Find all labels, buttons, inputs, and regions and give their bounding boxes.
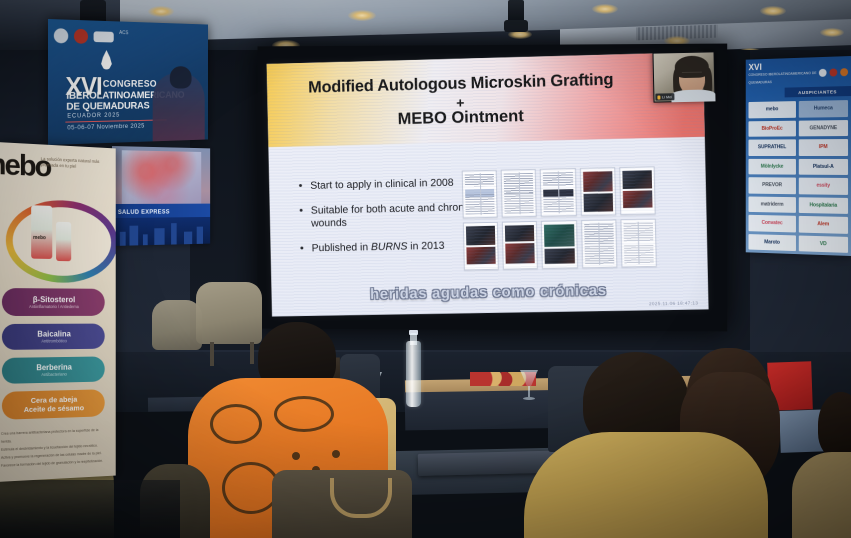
sponsor-logo: BioProEc xyxy=(748,120,795,137)
sponsor-banner-roman: XVI CONGRESO IBEROLATINOAMERICANO DE QUE… xyxy=(748,61,818,87)
congress-dates: 05-06-07 Noviembre 2025 xyxy=(67,123,144,132)
downlight-icon xyxy=(592,4,618,14)
sponsor-logo: Hospitalaria xyxy=(799,197,848,214)
presenter-torso xyxy=(671,89,715,102)
foreground-shadow xyxy=(0,480,180,538)
mebo-tube-large xyxy=(31,205,52,259)
ingredient-name: β-Sitosterol xyxy=(33,295,75,304)
sponsor-banner-header: XVI CONGRESO IBEROLATINOAMERICANO DE QUE… xyxy=(748,59,848,87)
bullet-marker: • xyxy=(300,243,304,256)
sponsors-section-label: AUSPICIANTES xyxy=(785,86,851,97)
sponsor-logo: Alem xyxy=(799,216,848,234)
downlight-icon xyxy=(348,10,376,21)
wine-glass-stem xyxy=(528,386,530,397)
logo-sociedad-icon xyxy=(74,28,88,43)
downlight-icon xyxy=(820,28,844,37)
list-item: • Published in BURNS in 2013 xyxy=(300,239,484,255)
water-bottle xyxy=(406,341,421,407)
paper-thumbnail xyxy=(463,222,499,271)
secondary-display: SALUD EXPRESS xyxy=(112,146,210,246)
logo-a-icon xyxy=(819,69,827,77)
sponsor-banner-subtitle: CONGRESO IBEROLATINOAMERICANO DE QUEMADU… xyxy=(748,69,818,87)
paper-thumbnail xyxy=(620,219,657,268)
skyline-graphic xyxy=(112,217,210,246)
sponsor-logo: matriderm xyxy=(748,196,795,213)
paper-thumbnail-grid xyxy=(462,166,657,270)
mebo-footnotes: Crea una barrera antibacteriana protecto… xyxy=(1,426,108,470)
paper-thumbnail xyxy=(541,220,577,269)
paper-thumbnail xyxy=(619,166,656,215)
ingredient-name: Baicalina xyxy=(37,330,70,339)
banner-silhouette-head xyxy=(170,66,192,88)
eyeglasses-icon xyxy=(682,72,702,78)
slide-annotation: heridas agudas como crónicas xyxy=(271,280,708,305)
sponsor-banner-right: XVI CONGRESO IBEROLATINOAMERICANO DE QUE… xyxy=(746,56,851,256)
sponsor-logo: Platsul-A xyxy=(799,158,848,175)
person-olive-jacket xyxy=(524,432,768,538)
sponsor-mini-logos xyxy=(819,68,848,77)
sponsor-logo: Mölnlycke xyxy=(748,158,795,174)
congress-word: CONGRESO xyxy=(103,79,157,90)
person-right-edge-head xyxy=(818,392,851,458)
paper-thumbnail xyxy=(462,170,498,219)
sponsor-logo: IPM xyxy=(799,139,848,155)
divider xyxy=(65,119,166,122)
ingredient-pill: Baicalina Antitrombótico xyxy=(2,324,105,350)
list-item: • Start to apply in clinical in 2008 xyxy=(299,176,483,193)
paper-thumbnail xyxy=(581,219,618,268)
sponsor-logo: PREVOR xyxy=(748,177,795,194)
ingredient-sub: Antibacteriano xyxy=(41,372,66,377)
logo-partner-icon: ACS xyxy=(119,30,128,45)
downlight-icon xyxy=(148,6,174,17)
downlight-icon xyxy=(760,6,786,16)
logo-b-icon xyxy=(829,68,837,76)
bullet-marker: • xyxy=(299,205,303,231)
secondary-display-graphic xyxy=(122,150,201,210)
flame-icon xyxy=(100,50,113,70)
sponsor-logo: Convatec xyxy=(748,215,795,232)
ingredient-sub: Antiinflamatorio / Antiedema xyxy=(29,304,79,309)
paper-thumbnail xyxy=(501,169,537,218)
bullet-text: Start to apply in clinical in 2008 xyxy=(310,177,454,193)
ingredient-pill: Berberina Antibacteriano xyxy=(2,356,105,383)
list-item: • Suitable for both acute and chronic wo… xyxy=(299,201,483,231)
empty-chair xyxy=(196,282,262,344)
sponsor-logo: Humeca xyxy=(799,100,848,117)
mebo-product-banner: mebo La solución experta natural más pre… xyxy=(0,142,116,482)
empty-chair xyxy=(152,300,202,350)
bullet-marker: • xyxy=(299,180,303,193)
sponsor-logo-grid: mebo Humeca BioProEc GENADYNE SUPRATHEL … xyxy=(748,100,848,253)
bullet-text-composite: Published in BURNS in 2013 xyxy=(312,240,445,256)
ingredient-pill: Cera de abeja Aceite de sésamo xyxy=(2,389,105,420)
video-call-thumbnail[interactable]: Li Mei xyxy=(652,51,715,102)
presentation-slide: Modified Autologous Microskin Grafting +… xyxy=(267,52,709,316)
paper-thumbnail xyxy=(502,221,538,270)
mebo-tube-label: mebo xyxy=(33,235,46,241)
slide-bullet-list: • Start to apply in clinical in 2008 • S… xyxy=(299,176,484,267)
ingredient-pill: β-Sitosterol Antiinflamatorio / Antiedem… xyxy=(2,288,105,316)
microphone-icon xyxy=(657,95,660,99)
congress-country-year: ECUADOR 2025 xyxy=(67,113,120,120)
bullet-text: Suitable for both acute and chronic woun… xyxy=(311,201,483,230)
ingredient-sub: Antitrombótico xyxy=(41,338,66,343)
sponsor-logo: mebo xyxy=(748,101,795,118)
sponsor-logo: Maroto xyxy=(748,234,795,252)
wine-glass-base xyxy=(523,397,535,400)
chair-leg xyxy=(250,342,254,364)
paper-thumbnail xyxy=(580,167,617,216)
journal-name: BURNS xyxy=(371,241,408,254)
paper-thumbnail xyxy=(540,168,576,217)
chair-leg xyxy=(210,342,214,366)
logo-c-icon xyxy=(840,68,848,76)
sponsor-logo: essity xyxy=(799,178,848,195)
bullet-text-pre: Published in xyxy=(312,241,372,254)
slide-watermark-timestamp: 2025.11.06 18:47:13 xyxy=(649,300,698,306)
organizer-logos: ACS xyxy=(54,25,197,48)
person-right-edge xyxy=(792,452,851,538)
logo-isbi-icon xyxy=(94,31,114,42)
conference-room-photo: ACS XVI CONGRESO IBEROLATINOAMERICANO DE… xyxy=(0,0,851,538)
sponsor-logo: GENADYNE xyxy=(799,120,848,137)
participant-name-badge: Li Mei xyxy=(655,93,674,100)
mebo-tube-small xyxy=(56,222,71,261)
mebo-tagline: La solución experta natural más premiada… xyxy=(41,156,110,171)
spotlight-head-2 xyxy=(504,20,528,32)
participant-name: Li Mei xyxy=(662,95,672,99)
congress-banner-left: ACS XVI CONGRESO IBEROLATINOAMERICANO DE… xyxy=(48,19,208,145)
bullet-text-post: in 2013 xyxy=(407,240,444,253)
logo-fela-icon xyxy=(54,28,68,43)
sponsor-logo: VD xyxy=(799,235,848,253)
ingredient-sub: Aceite de sésamo xyxy=(24,403,84,414)
secondary-display-banner-text: SALUD EXPRESS xyxy=(118,210,170,216)
sponsor-logo: SUPRATHEL xyxy=(748,139,795,155)
